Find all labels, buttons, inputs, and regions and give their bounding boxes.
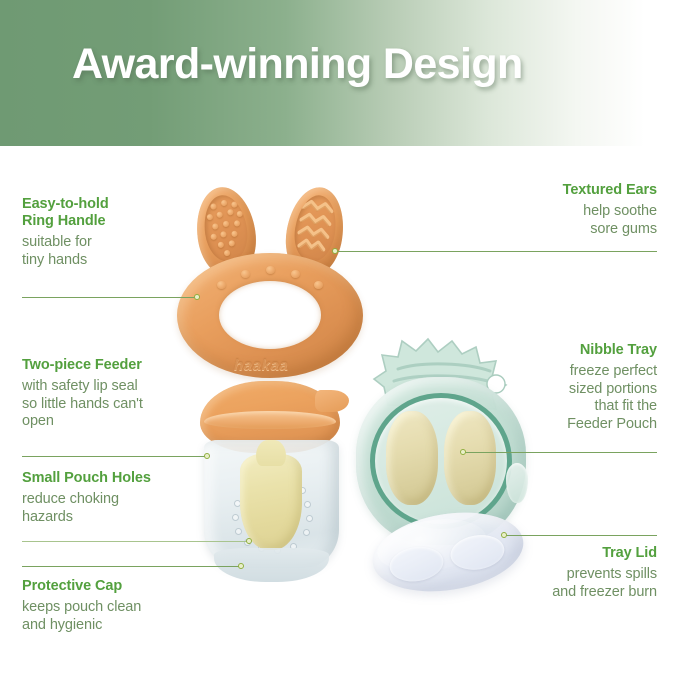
ear-bump: [221, 200, 228, 207]
leader-endpoint-textured-ears: [332, 248, 338, 254]
ear-bump: [236, 211, 243, 218]
callout-body: open: [22, 413, 143, 431]
leader-line-two-piece-feeder: [22, 456, 207, 457]
callout-body: so little hands can't: [22, 396, 143, 414]
callout-body: keeps pouch clean: [22, 599, 141, 617]
leader-endpoint-two-piece-feeder: [204, 453, 210, 459]
callout-textured-ears: Textured Ears help soothe sore gums: [563, 182, 657, 238]
callout-heading: Ring Handle: [22, 213, 109, 230]
food-cavity: [444, 411, 496, 505]
infographic-canvas: Award-winning Design: [0, 0, 679, 679]
food-cavity: [386, 411, 438, 505]
callout-body: Feeder Pouch: [567, 416, 657, 434]
callout-heading: Nibble Tray: [567, 342, 657, 359]
cap-foot: [214, 548, 329, 582]
ear-bump: [228, 240, 235, 247]
leader-line-tray-lid: [505, 535, 657, 536]
callout-heading: Easy-to-hold: [22, 196, 109, 213]
leader-endpoint-tray-lid: [501, 532, 507, 538]
pouch-hole: [303, 529, 310, 536]
ear-bump: [231, 230, 238, 237]
leader-endpoint-protective-cap: [238, 563, 244, 569]
callout-heading: Two-piece Feeder: [22, 357, 143, 374]
leader-line-protective-cap: [22, 566, 241, 567]
ear-bump: [223, 221, 230, 228]
leader-line-nibble-tray: [463, 452, 657, 453]
callout-body: help soothe: [563, 203, 657, 221]
leader-line-small-pouch-holes: [22, 541, 249, 542]
callout-body: and freezer burn: [552, 584, 657, 602]
ear-bump: [224, 250, 231, 257]
silicone-feeder-pouch: [240, 454, 302, 550]
feeder-release-tab: [315, 390, 349, 412]
callout-body: sized portions: [567, 381, 657, 399]
callout-body: and hygienic: [22, 617, 141, 635]
pouch-neck: [256, 440, 286, 466]
callout-body: sore gums: [563, 221, 657, 239]
callout-easy-to-hold-ring-handle: Easy-to-hold Ring Handle suitable for ti…: [22, 196, 109, 269]
pouch-hole: [235, 528, 242, 535]
ear-bump: [210, 233, 217, 240]
ring-bump: [217, 281, 226, 289]
ear-bump: [231, 201, 238, 208]
ring-bump: [266, 266, 275, 274]
callout-body: reduce choking: [22, 491, 151, 509]
callout-tray-lid: Tray Lid prevents spills and freezer bur…: [552, 545, 657, 601]
ear-bump: [216, 211, 223, 218]
ear-bump: [217, 241, 224, 248]
leader-line-ring-handle: [22, 297, 197, 298]
callout-nibble-tray: Nibble Tray freeze perfect sized portion…: [567, 342, 657, 433]
callout-body: hazards: [22, 509, 151, 527]
pouch-hole: [232, 514, 239, 521]
callout-heading: Tray Lid: [552, 545, 657, 562]
brand-mark-haakaa: haakaa: [234, 357, 288, 374]
callout-protective-cap: Protective Cap keeps pouch clean and hyg…: [22, 578, 141, 634]
ear-bump: [220, 231, 227, 238]
tray-side-tab: [506, 463, 528, 503]
callout-heading: Protective Cap: [22, 578, 141, 595]
ring-hole: [219, 281, 321, 349]
callout-small-pouch-holes: Small Pouch Holes reduce choking hazards: [22, 470, 151, 526]
ring-bump: [314, 281, 323, 289]
callout-body: prevents spills: [552, 566, 657, 584]
leader-endpoint-small-pouch-holes: [246, 538, 252, 544]
callout-heading: Small Pouch Holes: [22, 470, 151, 487]
ear-bump: [212, 223, 219, 230]
ear-bump: [210, 203, 217, 210]
pouch-hole: [306, 515, 313, 522]
ear-bump: [207, 214, 214, 221]
leader-endpoint-ring-handle: [194, 294, 200, 300]
callout-two-piece-feeder: Two-piece Feeder with safety lip seal so…: [22, 357, 143, 431]
ring-bump: [241, 270, 250, 278]
leader-line-textured-ears: [335, 251, 657, 252]
callout-body: suitable for: [22, 234, 109, 252]
callout-body: that fit the: [567, 398, 657, 416]
pouch-hole: [304, 501, 311, 508]
ear-bump: [227, 209, 234, 216]
ear-bump: [234, 220, 241, 227]
callout-body: with safety lip seal: [22, 378, 143, 396]
callout-heading: Textured Ears: [563, 182, 657, 199]
callout-body: tiny hands: [22, 252, 109, 270]
feeder-lip-seal: [204, 411, 336, 429]
bunny-ring-teether: haakaa: [175, 185, 365, 435]
leader-endpoint-nibble-tray: [460, 449, 466, 455]
callout-body: freeze perfect: [567, 363, 657, 381]
ring-bump: [291, 270, 300, 278]
protective-cap-assembly: [204, 440, 339, 590]
